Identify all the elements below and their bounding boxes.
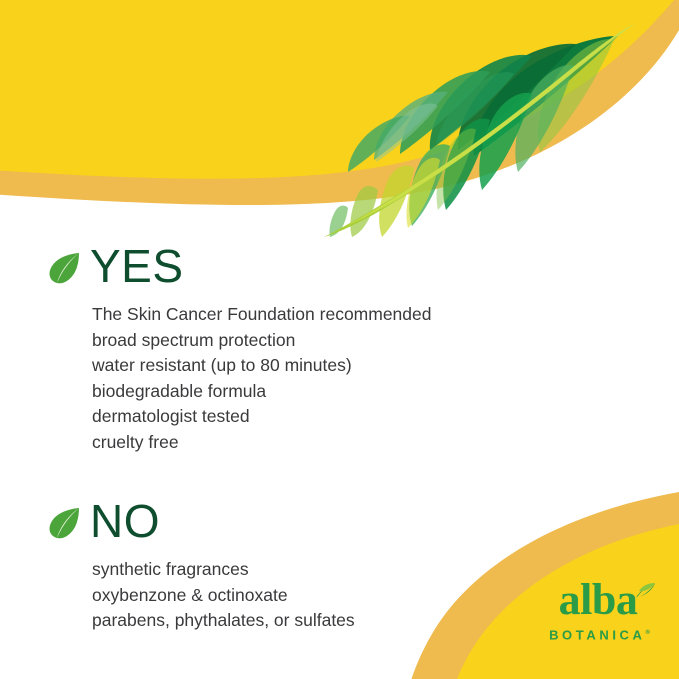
brand-subtext-wrap: BOTANICA® [549,625,650,643]
brand-wordmark-wrap: alba [559,578,638,622]
list-item: cruelty free [92,430,432,456]
section-no-list: synthetic fragrances oxybenzone & octino… [46,557,355,634]
list-item: biodegradable formula [92,379,432,405]
list-item: water resistant (up to 80 minutes) [92,353,432,379]
leaf-stem [324,24,634,237]
list-item: synthetic fragrances [92,557,355,583]
section-no-heading: NO [90,498,160,544]
section-yes-list: The Skin Cancer Foundation recommended b… [46,302,432,455]
leaf-icon [46,250,82,286]
leaf-icon [46,505,82,541]
brand-wordmark: alba [559,578,638,622]
list-item: The Skin Cancer Foundation recommended [92,302,432,328]
sprout-icon [633,580,657,600]
section-yes-heading: YES [90,243,184,289]
list-item: parabens, phythalates, or sulfates [92,608,355,634]
leaf-upper-fronds [348,36,618,172]
list-item: oxybenzone & octinoxate [92,583,355,609]
section-yes-header: YES [46,240,432,292]
brand-logo: alba BOTANICA® [536,578,660,646]
top-yellow-shape [0,0,679,179]
section-yes: YES The Skin Cancer Foundation recommend… [46,240,432,455]
brand-subtext: BOTANICA [549,627,645,642]
section-no: NO synthetic fragrances oxybenzone & oct… [46,495,355,634]
list-item: dermatologist tested [92,404,432,430]
list-item: broad spectrum protection [92,328,432,354]
product-infographic: YES The Skin Cancer Foundation recommend… [0,0,679,679]
leaf-lower-fronds [329,39,614,237]
registered-mark-icon: ® [646,630,650,636]
tropical-leaf-illustration [318,22,648,237]
section-no-header: NO [46,495,355,547]
top-amber-shape [0,0,679,205]
